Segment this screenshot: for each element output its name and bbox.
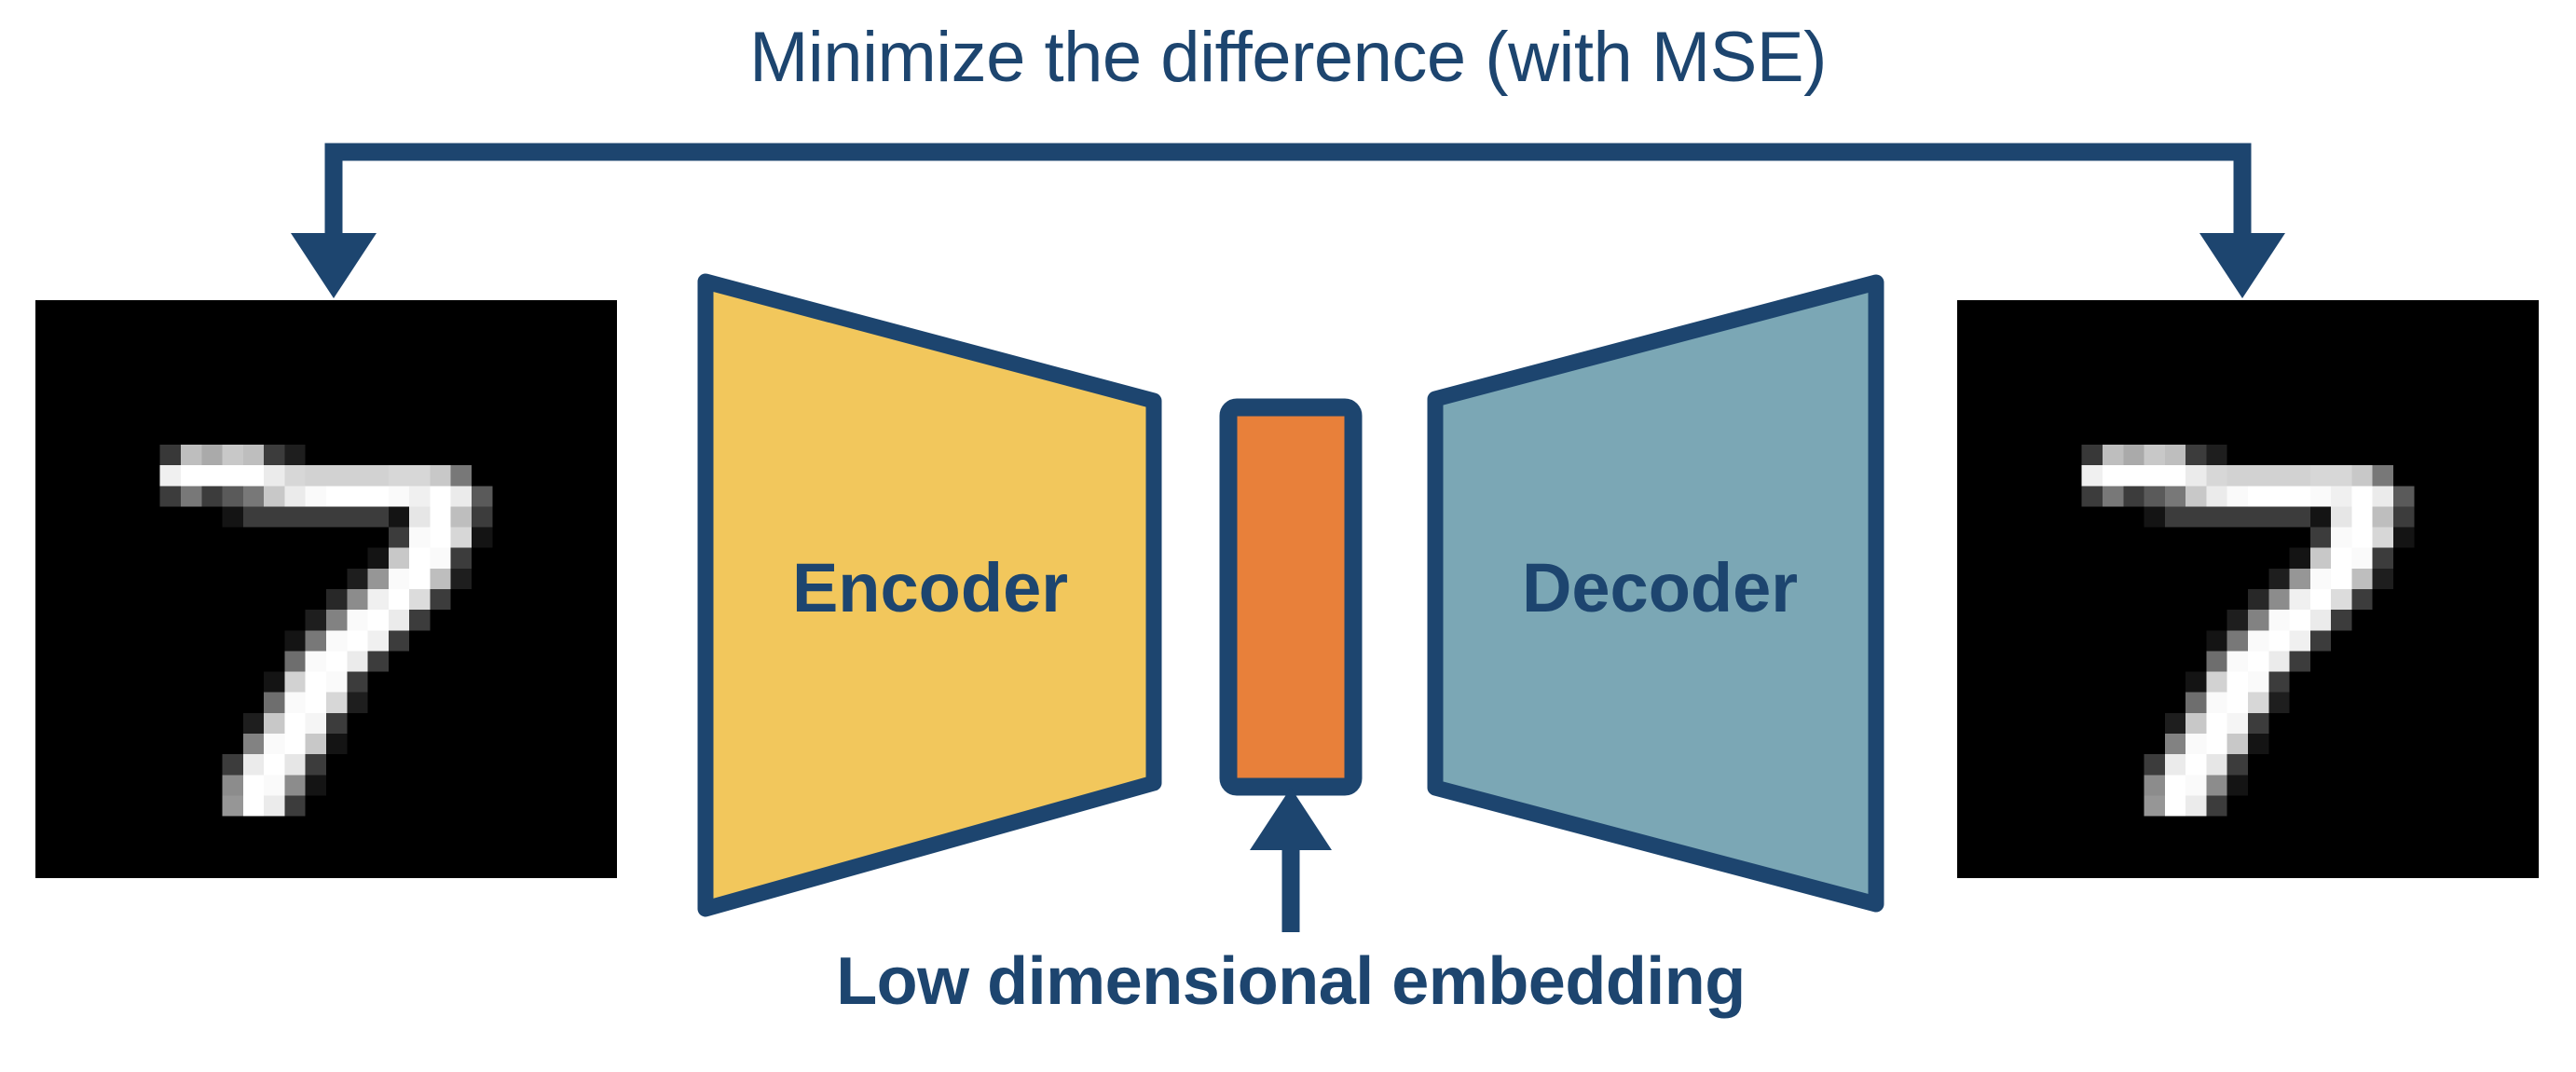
autoencoder-diagram: Minimize the difference (with MSE) <box>0 0 2576 1072</box>
bracket-right-arrowhead <box>2199 233 2285 298</box>
encoder-label: Encoder <box>708 548 1152 627</box>
embedding-arrowhead <box>1250 788 1332 850</box>
bracket-left-arrowhead <box>291 233 377 298</box>
output-digit-canvas <box>1957 300 2539 878</box>
input-digit-canvas <box>35 300 617 878</box>
latent-embedding-bar[interactable] <box>1228 407 1353 787</box>
output-mnist-digit-7 <box>1957 300 2539 878</box>
decoder-label: Decoder <box>1443 548 1877 627</box>
embedding-caption: Low dimensional embedding <box>615 943 1966 1020</box>
page-title: Minimize the difference (with MSE) <box>0 17 2576 98</box>
mse-loss-bracket <box>291 147 2285 298</box>
input-mnist-digit-7 <box>35 300 617 878</box>
embedding-up-arrow <box>1250 788 1332 932</box>
